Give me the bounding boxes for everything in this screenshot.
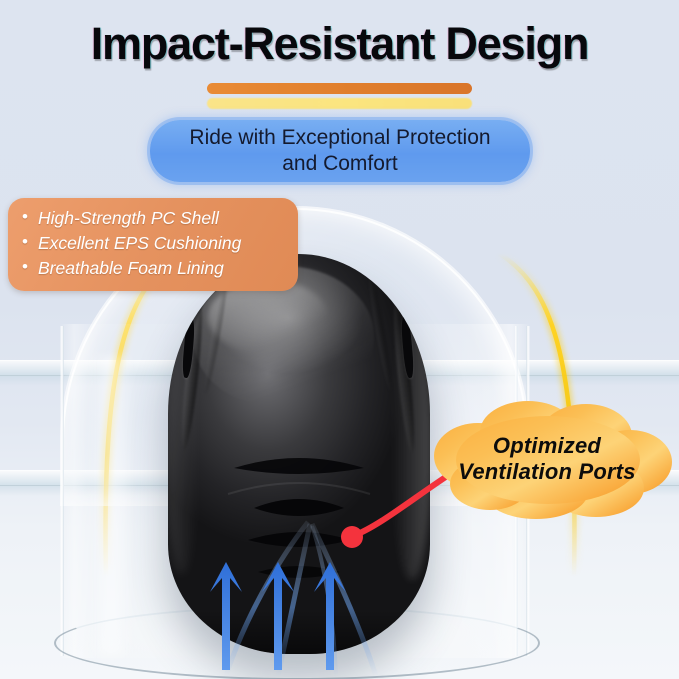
glass-rim-left [60,326,64,656]
callout-text: Optimized Ventilation Ports [418,396,676,520]
callout-line-1: Optimized [493,433,601,459]
subtitle-banner: Ride with Exceptional Protection and Com… [150,120,530,182]
helmet-rear-vents-icon [218,454,380,614]
subtitle-line-1: Ride with Exceptional Protection [189,125,490,151]
ventilation-callout[interactable]: Optimized Ventilation Ports [418,396,676,520]
helmet-shell [168,254,430,654]
title-rule-orange [207,83,472,94]
callout-line-2: Ventilation Ports [458,459,635,485]
feature-list-panel: High-Strength PC Shell Excellent EPS Cus… [8,198,298,291]
feature-list: High-Strength PC Shell Excellent EPS Cus… [22,206,286,281]
title-rule-yellow [207,98,472,109]
list-item: Excellent EPS Cushioning [22,231,286,256]
list-item: High-Strength PC Shell [22,206,286,231]
subtitle-text: Ride with Exceptional Protection and Com… [150,120,530,182]
helmet-bottom-rim [168,610,430,654]
helmet-product-image [168,254,430,654]
page-title: Impact-Resistant Design [0,18,679,70]
subtitle-line-2: and Comfort [282,151,398,177]
glass-highlight [88,356,134,656]
product-feature-graphic: Optimized Ventilation Ports Impact-Resis… [0,0,679,679]
list-item: Breathable Foam Lining [22,256,286,281]
